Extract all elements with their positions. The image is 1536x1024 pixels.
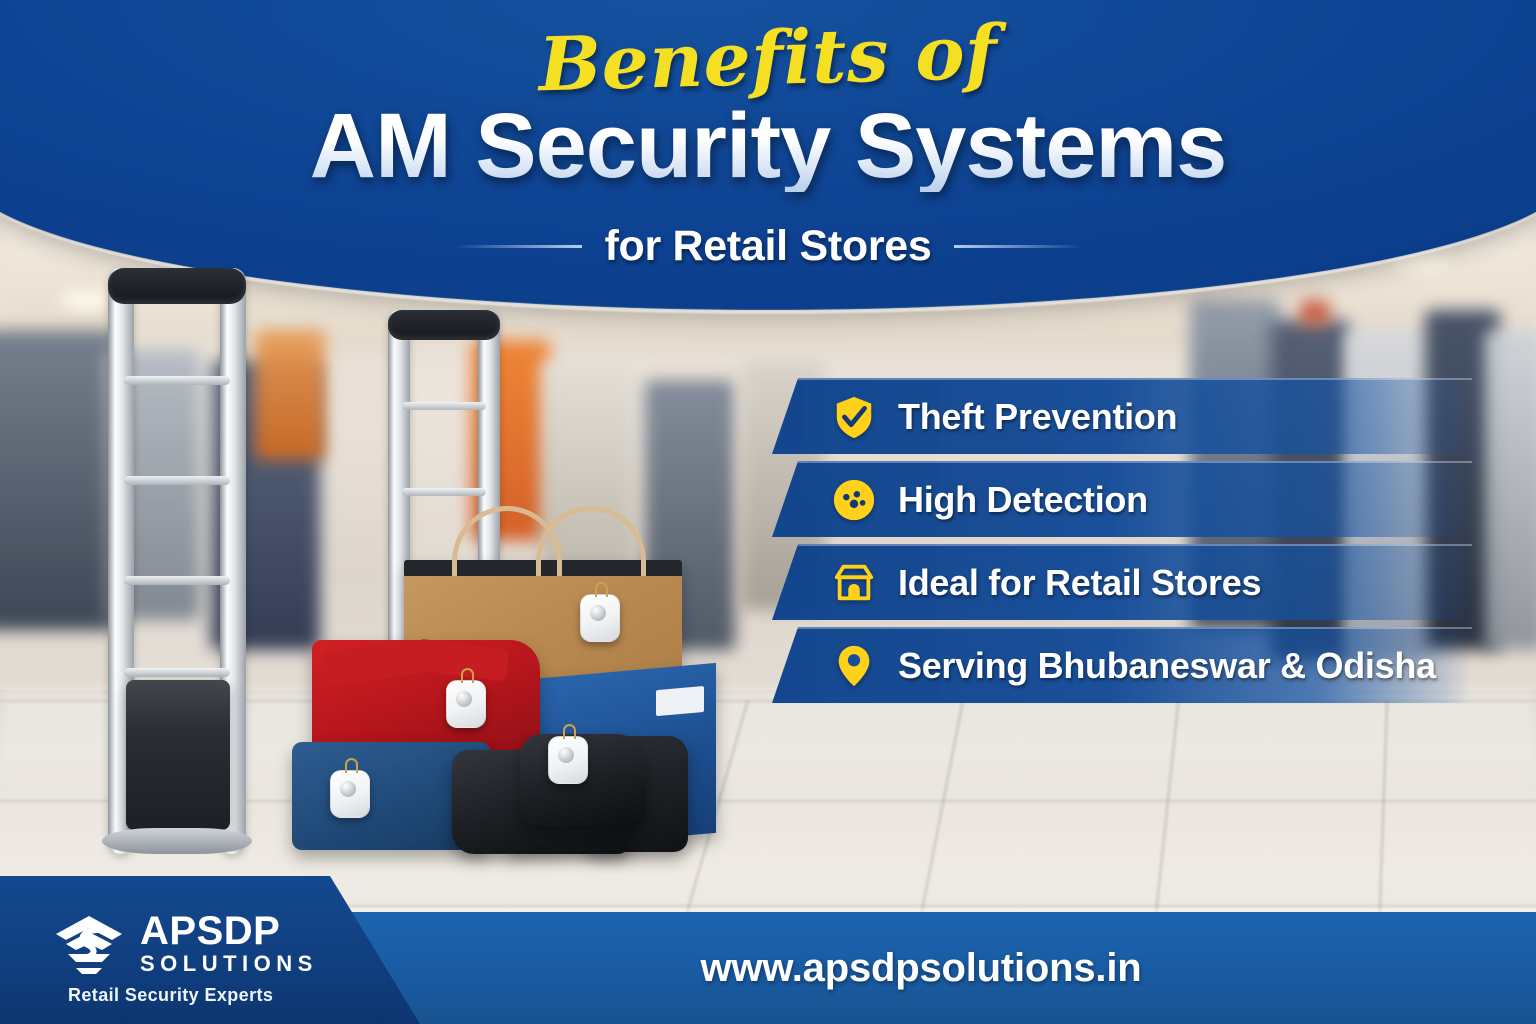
subtitle-rule-right	[954, 245, 1082, 248]
brand-wordmark: APSDP SOLUTIONS	[140, 912, 382, 978]
benefit-label: Theft Prevention	[898, 396, 1177, 438]
benefit-item-service-area[interactable]: Serving Bhubaneswar & Odisha	[772, 627, 1472, 703]
eas-gate-left	[108, 268, 246, 854]
am-security-tag	[548, 736, 588, 784]
brand-logo[interactable]: APSDP SOLUTIONS Retail Security Experts	[52, 912, 382, 1006]
clothing-rack	[1485, 330, 1536, 650]
benefit-label: Ideal for Retail Stores	[898, 562, 1261, 604]
subtitle-row: for Retail Stores	[0, 222, 1536, 271]
brand-subname: SOLUTIONS	[140, 951, 318, 976]
page-subtitle: for Retail Stores	[604, 222, 931, 271]
clothing-rack	[0, 330, 115, 630]
am-security-tag	[330, 770, 370, 818]
benefit-item-theft-prevention[interactable]: Theft Prevention	[772, 378, 1472, 454]
benefit-item-high-detection[interactable]: High Detection	[772, 461, 1472, 537]
benefit-label: High Detection	[898, 479, 1148, 521]
detection-sensor-icon	[830, 476, 878, 524]
rack-accent	[1300, 300, 1330, 326]
website-url[interactable]: www.apsdpsolutions.in	[416, 912, 1536, 1024]
subtitle-rule-left	[454, 245, 582, 248]
retail-store-icon	[830, 559, 878, 607]
brand-name: APSDP	[140, 909, 280, 953]
benefits-list: Theft Prevention High Detection Ideal fo…	[772, 378, 1472, 710]
am-security-tag	[580, 594, 620, 642]
page-title: AM Security Systems	[0, 100, 1536, 192]
location-pin-icon	[830, 642, 878, 690]
clothing-rack	[255, 330, 325, 460]
am-security-tag	[446, 680, 486, 728]
benefit-item-retail-stores[interactable]: Ideal for Retail Stores	[772, 544, 1472, 620]
ceiling-lamp	[60, 290, 112, 310]
shield-check-icon	[830, 393, 878, 441]
poster-canvas: Benefits of AM Security Systems for Reta…	[0, 0, 1536, 1024]
brand-tagline: Retail Security Experts	[52, 985, 382, 1006]
benefit-label: Serving Bhubaneswar & Odisha	[898, 645, 1436, 687]
apsdp-logo-mark	[52, 912, 126, 978]
